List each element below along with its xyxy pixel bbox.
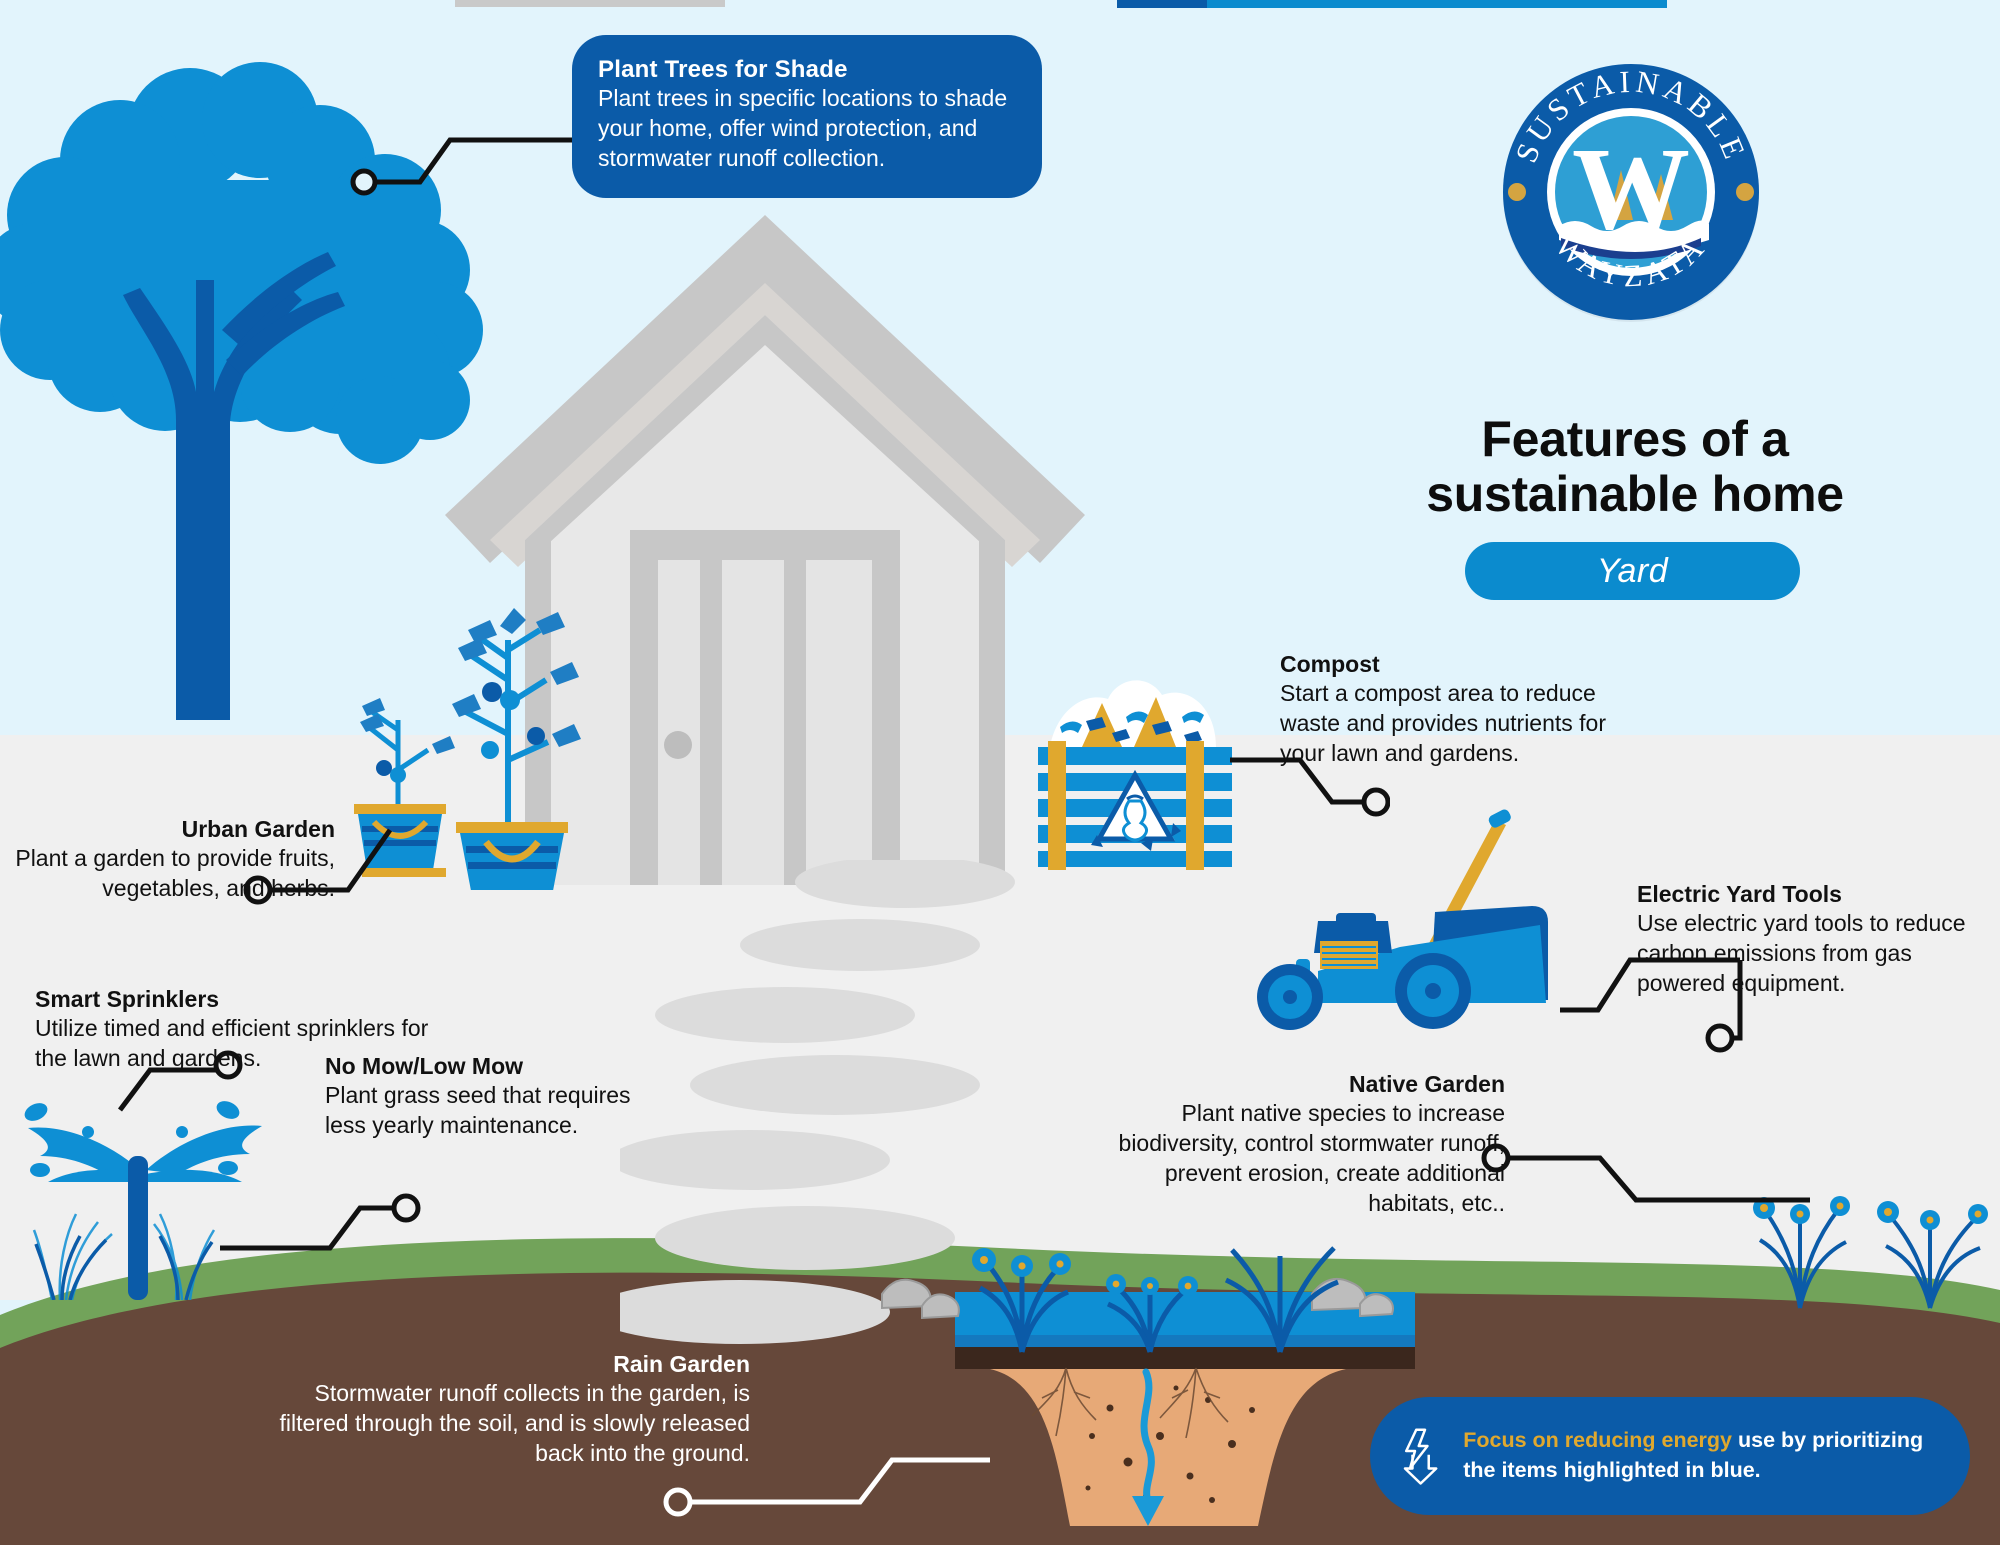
page-title-line2: sustainable home	[1355, 467, 1915, 522]
label-urban-garden: Urban Garden Plant a garden to provide f…	[0, 815, 335, 904]
label-no-mow-low-mow: No Mow/Low Mow Plant grass seed that req…	[325, 1052, 675, 1141]
callout-body: Plant trees in specific locations to sha…	[598, 84, 1016, 174]
label-electric-yard-tools: Electric Yard Tools Use electric yard to…	[1637, 880, 1997, 999]
page-title-line1: Features of a	[1355, 412, 1915, 467]
logo-monogram: W	[1572, 123, 1690, 254]
label-body: Plant a garden to provide fruits, vegeta…	[0, 844, 335, 904]
native-plants-illustration	[1740, 1160, 2000, 1310]
potted-tomato-plants-illustration	[340, 600, 590, 890]
label-native-garden: Native Garden Plant native species to in…	[1085, 1070, 1505, 1219]
label-body: Start a compost area to reduce waste and…	[1280, 679, 1630, 769]
label-title: No Mow/Low Mow	[325, 1052, 675, 1081]
label-rain-garden: Rain Garden Stormwater runoff collects i…	[250, 1350, 750, 1469]
callout-title: Plant Trees for Shade	[598, 55, 1016, 84]
callout-plant-trees-for-shade: Plant Trees for Shade Plant trees in spe…	[572, 35, 1042, 198]
banner-highlight: Focus on reducing energy	[1463, 1428, 1732, 1452]
banner-text: Focus on reducing energy use by prioriti…	[1463, 1426, 1940, 1485]
section-pill-yard[interactable]: Yard	[1465, 542, 1800, 600]
label-body: Plant native species to increase biodive…	[1085, 1099, 1505, 1219]
section-pill-label: Yard	[1597, 552, 1668, 591]
label-title: Electric Yard Tools	[1637, 880, 1997, 909]
electric-lawn-mower-illustration	[1240, 775, 1570, 1035]
label-body: Plant grass seed that requires less year…	[325, 1081, 675, 1141]
label-body: Stormwater runoff collects in the garden…	[250, 1379, 750, 1469]
compost-bin-illustration	[1030, 655, 1240, 870]
label-title: Smart Sprinklers	[35, 985, 465, 1014]
label-compost: Compost Start a compost area to reduce w…	[1280, 650, 1630, 769]
label-title: Compost	[1280, 650, 1630, 679]
energy-focus-banner: Focus on reducing energy use by prioriti…	[1370, 1397, 1970, 1515]
label-title: Rain Garden	[250, 1350, 750, 1379]
label-title: Native Garden	[1085, 1070, 1505, 1099]
label-title: Urban Garden	[0, 815, 335, 844]
sustainable-wayzata-logo: W SUSTAINABLE WAYZATA	[1497, 58, 1765, 326]
page-title: Features of a sustainable home	[1355, 412, 1915, 522]
label-body: Use electric yard tools to reduce carbon…	[1637, 909, 1997, 999]
sprinkler-illustration	[0, 1070, 300, 1300]
energy-down-arrow-icon	[1400, 1410, 1441, 1502]
top-edge-gray-strip	[455, 0, 725, 7]
top-edge-darkblue-strip	[1117, 0, 1207, 8]
infographic-canvas: Plant Trees for Shade Plant trees in spe…	[0, 0, 2000, 1545]
